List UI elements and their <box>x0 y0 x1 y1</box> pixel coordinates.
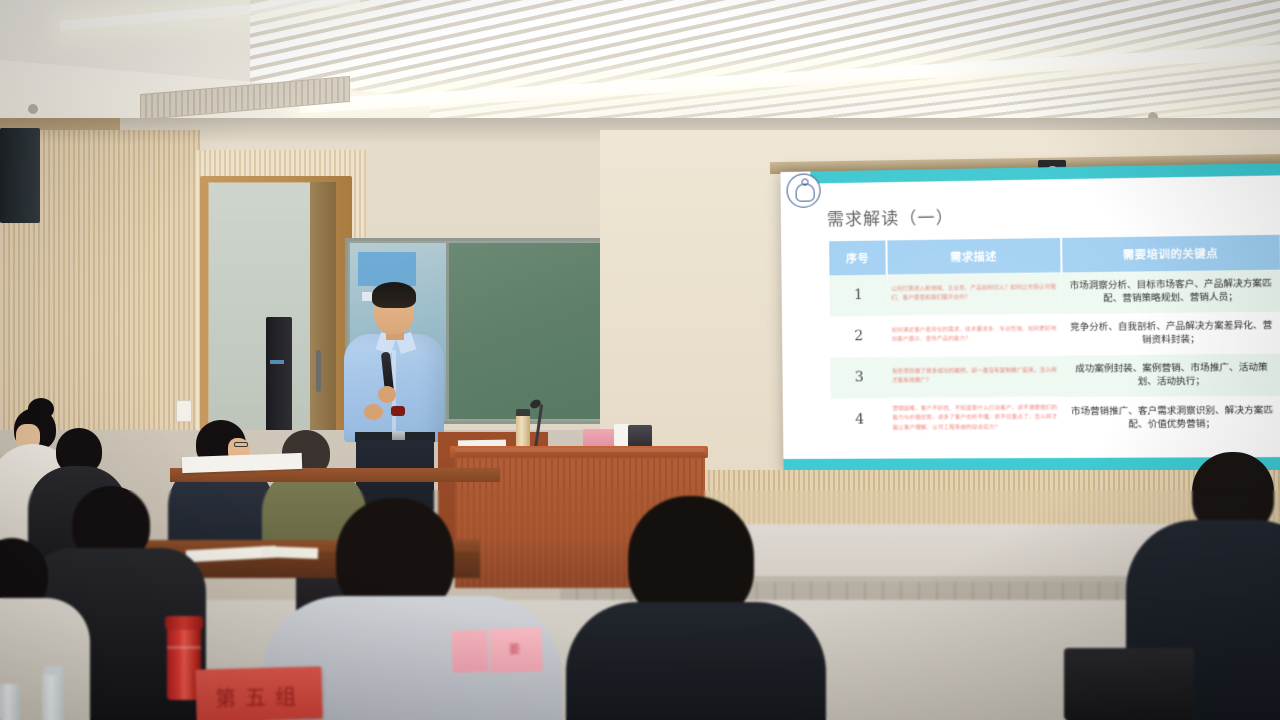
row-keypoints: 市场营销推广、客户需求洞察识别、解决方案匹配、价值优势营销； <box>1063 395 1280 440</box>
row-number: 4 <box>831 398 889 441</box>
table-header-row: 序号 需求描述 需要培训的关键点 <box>829 235 1280 276</box>
chair[interactable] <box>1064 648 1194 720</box>
row-keypoints: 市场洞察分析、目标市场客户、产品解决方案匹配、营销策略规划、营销人员； <box>1061 270 1280 314</box>
water-bottle <box>0 684 20 720</box>
wall-speaker <box>0 128 40 223</box>
name-placard <box>451 629 488 672</box>
audience-top <box>566 602 826 720</box>
row-description: 如何满足客户差异化的需求，技术要求多、专业性强，如何更好地向客户展示、宣传产品的… <box>887 314 1062 357</box>
podium-thermos-cap <box>516 409 530 416</box>
display-reflection <box>358 252 416 286</box>
projected-slide: 需求解读（一） 序号 需求描述 需要培训的关键点 1 公司打算进入新领域，主业务… <box>780 163 1280 474</box>
table-row: 1 公司打算进入新领域，主业务、产品如何切入？如何让市场认可我们、客户愿意和我们… <box>829 270 1280 317</box>
university-emblem-icon <box>786 173 820 208</box>
row-number: 2 <box>830 316 888 358</box>
conference-room-scene: 需求解读（一） 序号 需求描述 需要培训的关键点 1 公司打算进入新领域，主业务… <box>0 0 1280 720</box>
presenter-hair <box>372 282 416 308</box>
name-placard: 姜 <box>489 627 543 673</box>
podium-thermos <box>516 414 530 450</box>
column-header-no: 序号 <box>829 240 887 275</box>
slide-title: 需求解读（一） <box>827 203 954 230</box>
row-keypoints: 竞争分析、自我剖析、产品解决方案差异化、营销资料封装； <box>1062 312 1280 356</box>
display-led <box>270 360 284 364</box>
row-keypoints: 成功案例封装、案例营销、市场推广、活动策划、活动执行； <box>1062 353 1280 396</box>
water-bottle <box>42 672 64 720</box>
red-thermos-band <box>167 646 201 649</box>
slide-canvas: 需求解读（一） 序号 需求描述 需要培训的关键点 1 公司打算进入新领域，主业务… <box>780 163 1280 474</box>
sprinkler-head-left <box>28 104 38 114</box>
audience-hair-bun <box>28 398 54 420</box>
row-description: 营销困难，客户不好找、不知道靠什么打动客户，讲不清楚我们的能力与价值优势，讲多了… <box>888 397 1063 441</box>
water-bottle-cap <box>44 666 62 675</box>
table-row: 3 有些项目做了很多成功的案例，却一直没有复制推广起来，怎么样才能有效推广？ 成… <box>830 353 1280 398</box>
glasses-icon <box>234 442 248 447</box>
presenter-hand-holding-clicker <box>364 404 383 420</box>
group-placard: 第五组 <box>195 666 322 720</box>
red-thermos-cap <box>165 616 203 630</box>
table-row: 4 营销困难，客户不好找、不知道靠什么打动客户，讲不清楚我们的能力与价值优势，讲… <box>831 395 1280 441</box>
row-number: 3 <box>830 357 888 399</box>
column-header-desc: 需求描述 <box>887 238 1062 275</box>
podium-equipment-box <box>628 425 652 447</box>
door-handle[interactable] <box>316 350 321 392</box>
column-header-key: 需要培训的关键点 <box>1061 235 1280 273</box>
table-row: 2 如何满足客户差异化的需求，技术要求多、专业性强，如何更好地向客户展示、宣传产… <box>830 312 1280 358</box>
row-description: 有些项目做了很多成功的案例，却一直没有复制推广起来，怎么样才能有效推广？ <box>888 355 1063 398</box>
group-placard-text: 第五组 <box>204 681 317 714</box>
chalkboard-divider <box>446 243 449 419</box>
presenter-clicker-icon[interactable] <box>391 406 405 416</box>
row-number: 1 <box>829 275 887 317</box>
requirements-table: 序号 需求描述 需要培训的关键点 1 公司打算进入新领域，主业务、产品如何切入？… <box>829 235 1280 441</box>
name-placard-text: 姜 <box>494 639 539 658</box>
presenter-hand-holding-mic <box>378 386 396 403</box>
wall-switch-plate[interactable] <box>176 400 192 422</box>
row-description: 公司打算进入新领域，主业务、产品如何切入？如何让市场认可我们、客户愿意和我们展开… <box>887 272 1062 315</box>
